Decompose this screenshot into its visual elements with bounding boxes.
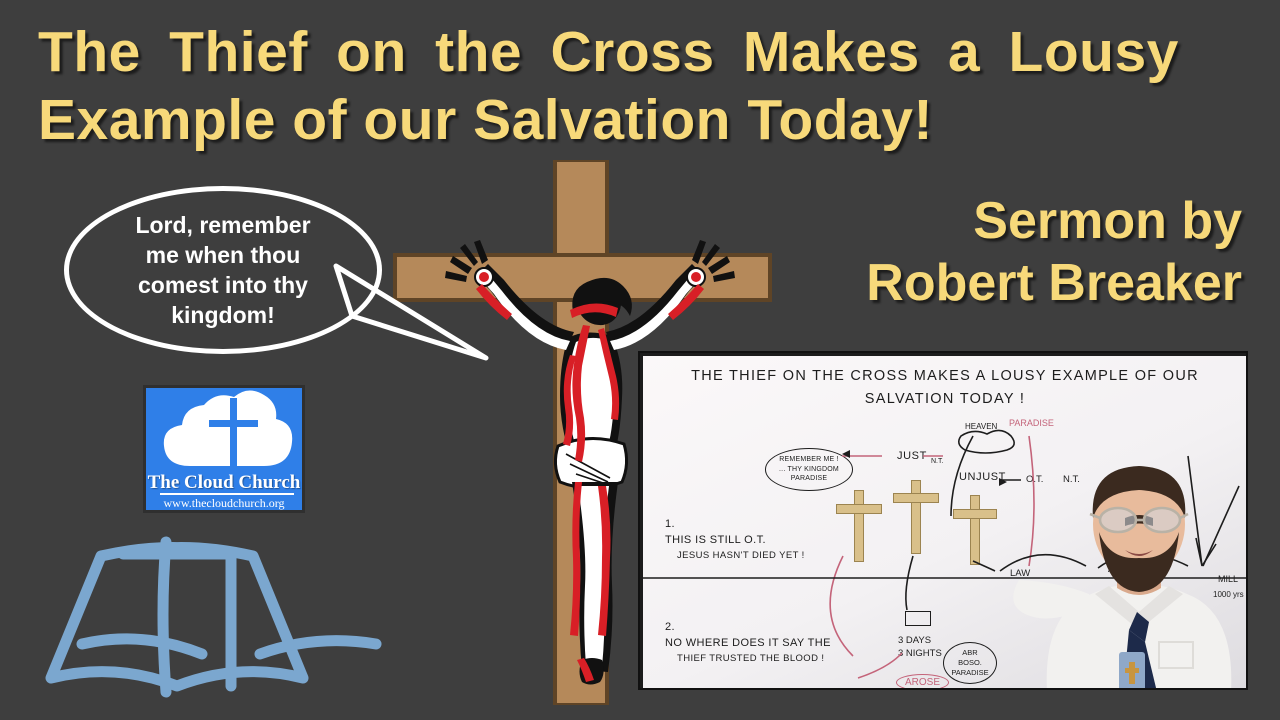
whiteboard-surface: THE THIEF ON THE CROSS MAKES A LOUSY EXA… [643,356,1247,689]
title-line-2: Example of our Salvation Today! [38,86,1248,154]
logo-divider [160,493,294,495]
speech-bubble-text: Lord, remember me when thou comest into … [113,210,332,330]
sermon-credit: Sermon by Robert Breaker [866,190,1242,314]
logo-website-url: www.thecloudchurch.org [146,496,302,511]
sermon-by-label: Sermon by [866,190,1242,252]
robert-breaker-presenter [1013,456,1247,689]
title-line-1: The Thief on the Cross Makes a Lousy [38,18,1248,86]
page-title: The Thief on the Cross Makes a Lousy Exa… [38,18,1248,154]
speech-bubble: Lord, remember me when thou comest into … [64,186,382,354]
open-book-icon [36,524,426,704]
video-thumbnail: The Thief on the Cross Makes a Lousy Exa… [0,0,1280,720]
cloud-church-logo[interactable]: The Cloud Church www.thecloudchurch.org [143,385,305,513]
whiteboard-photo[interactable]: THE THIEF ON THE CROSS MAKES A LOUSY EXA… [638,351,1248,690]
cloud-icon [146,390,305,476]
sermon-speaker-name: Robert Breaker [866,252,1242,314]
logo-church-name: The Cloud Church [146,472,302,494]
